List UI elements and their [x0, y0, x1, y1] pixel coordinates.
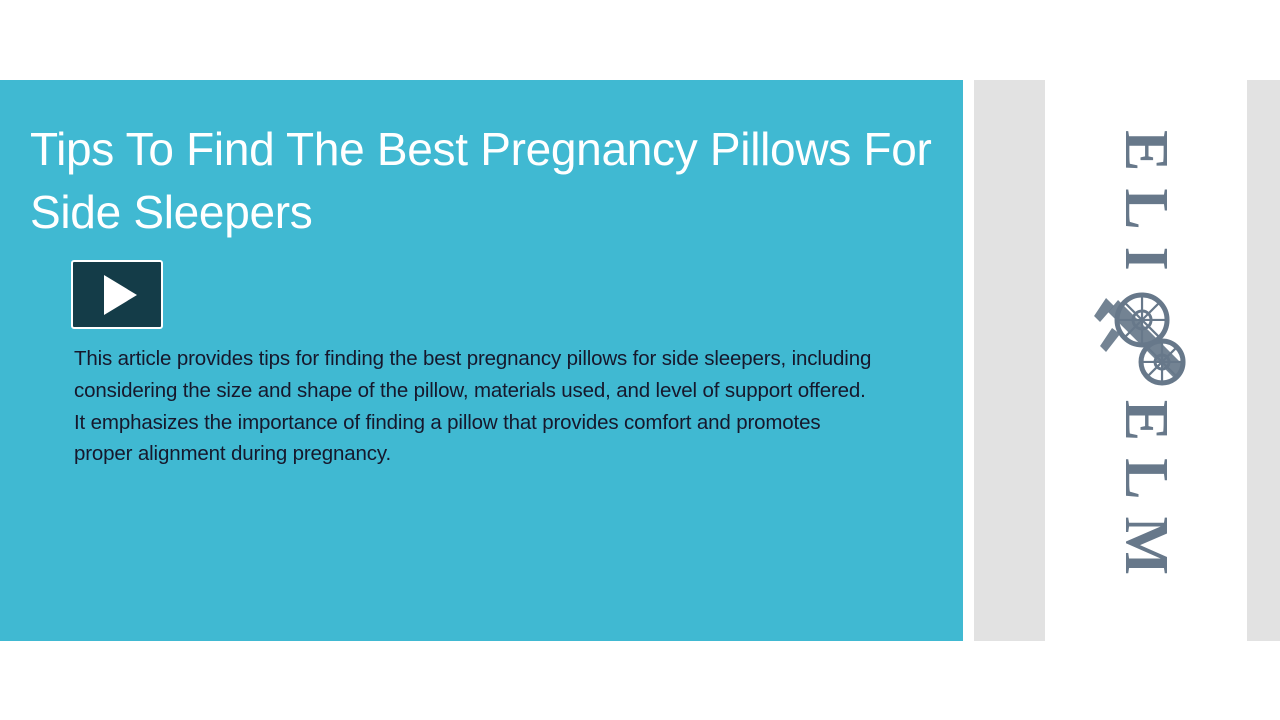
ornate-ampersand-icon [1088, 281, 1204, 397]
video-play-button[interactable] [71, 260, 163, 329]
slide-body-text: This article provides tips for finding t… [74, 343, 874, 470]
logo-word-elm: ELM [1115, 399, 1177, 591]
sidebar-band-right [1247, 80, 1280, 641]
eli-and-elm-logo: ELI [1088, 129, 1204, 591]
slide-title: Tips To Find The Best Pregnancy Pillows … [30, 118, 935, 245]
brand-logo-panel: ELI [1045, 80, 1247, 641]
sidebar-band-left [974, 80, 1045, 641]
slide-content-panel: Tips To Find The Best Pregnancy Pillows … [0, 80, 963, 641]
slide-root: Tips To Find The Best Pregnancy Pillows … [0, 0, 1280, 720]
logo-word-eli: ELI [1115, 129, 1177, 287]
play-triangle-icon [104, 275, 137, 315]
